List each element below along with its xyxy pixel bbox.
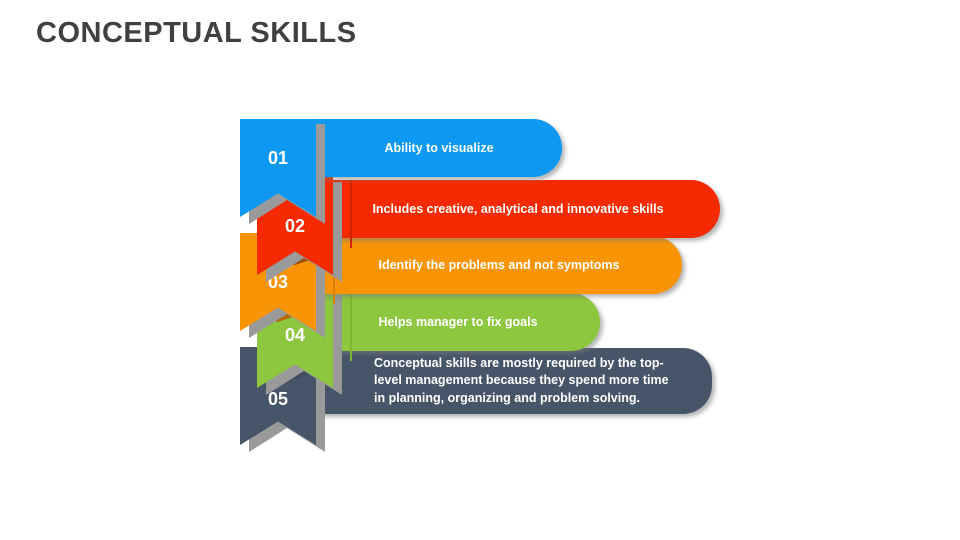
pill-row-2[interactable]: Includes creative, analytical and innova… [316,180,720,238]
pill-text-2: Includes creative, analytical and innova… [372,202,663,216]
conceptual-skills-diagram: Conceptual skills are mostly required by… [0,0,960,540]
pill-text-3: Identify the problems and not symptoms [379,258,620,272]
ribbon-seam-4 [350,293,352,361]
pill-row-5[interactable]: Conceptual skills are mostly required by… [316,348,712,414]
pill-row-1[interactable]: Ability to visualize [316,119,562,177]
pill-text-1: Ability to visualize [384,141,493,155]
pill-row-3[interactable]: Identify the problems and not symptoms [316,236,682,294]
pill-text-5: Conceptual skills are mostly required by… [374,355,669,407]
slide-canvas: CONCEPTUAL SKILLS Conceptual skills are … [0,0,960,540]
pill-row-4[interactable]: Helps manager to fix goals [316,293,600,351]
pill-text-4: Helps manager to fix goals [378,315,537,329]
ribbon-seam-2 [350,180,352,248]
